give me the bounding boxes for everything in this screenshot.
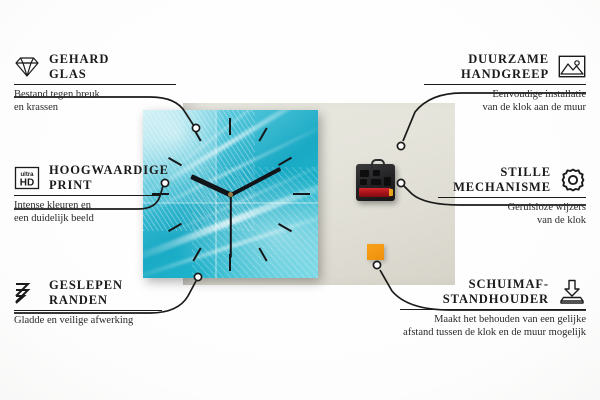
callout-subtitle: Bestand tegen breuk en krassen — [14, 89, 176, 114]
callout-title: HOOGWAARDIGE PRINT — [49, 163, 169, 192]
callout-stille-mechanisme: STILLE MECHANISME Geruisloze wijzers van… — [438, 165, 586, 228]
callout-title: STILLE MECHANISME — [453, 165, 551, 194]
callout-divider — [14, 195, 160, 196]
callout-divider — [438, 197, 586, 198]
callout-title: SCHUIMAF- STANDHOUDER — [443, 277, 549, 306]
callout-subtitle: Eenvoudige installatie van de klok aan d… — [424, 89, 586, 114]
diamond-icon — [14, 56, 40, 78]
callout-geslepen-randen: GESLEPEN RANDEN Gladde en veilige afwerk… — [14, 278, 162, 328]
callout-title: DUURZAME HANDGREEP — [461, 52, 549, 81]
callout-divider — [424, 84, 586, 85]
infographic-canvas: GEHARD GLAS Bestand tegen breuk en krass… — [0, 0, 600, 400]
callout-title: GEHARD GLAS — [49, 52, 109, 81]
callout-divider — [14, 84, 176, 85]
callout-subtitle: Gladde en veilige afwerking — [14, 315, 162, 328]
svg-text:HD: HD — [20, 177, 34, 188]
callout-duurzame-handgreep: DUURZAME HANDGREEP Eenvoudige installati… — [424, 52, 586, 115]
callout-divider — [14, 310, 162, 311]
callout-divider — [400, 309, 586, 310]
callout-hoogwaardige-print: ultra HD HOOGWAARDIGE PRINT Intense kleu… — [14, 163, 160, 226]
callout-title: GESLEPEN RANDEN — [49, 278, 123, 307]
callout-subtitle: Intense kleuren en een duidelijk beeld — [14, 200, 160, 225]
callout-subtitle: Maakt het behouden van een gelijke afsta… — [400, 314, 586, 339]
gear-icon — [560, 167, 586, 193]
press-down-icon — [558, 279, 586, 305]
callout-gehard-glas: GEHARD GLAS Bestand tegen breuk en krass… — [14, 52, 176, 115]
ultra-hd-icon: ultra HD — [14, 166, 40, 190]
beveled-edges-icon — [14, 281, 40, 305]
framed-picture-icon — [558, 55, 586, 78]
callout-schuimafstandhouder: SCHUIMAF- STANDHOUDER Maakt het behouden… — [400, 277, 586, 340]
callout-subtitle: Geruisloze wijzers van de klok — [438, 202, 586, 227]
